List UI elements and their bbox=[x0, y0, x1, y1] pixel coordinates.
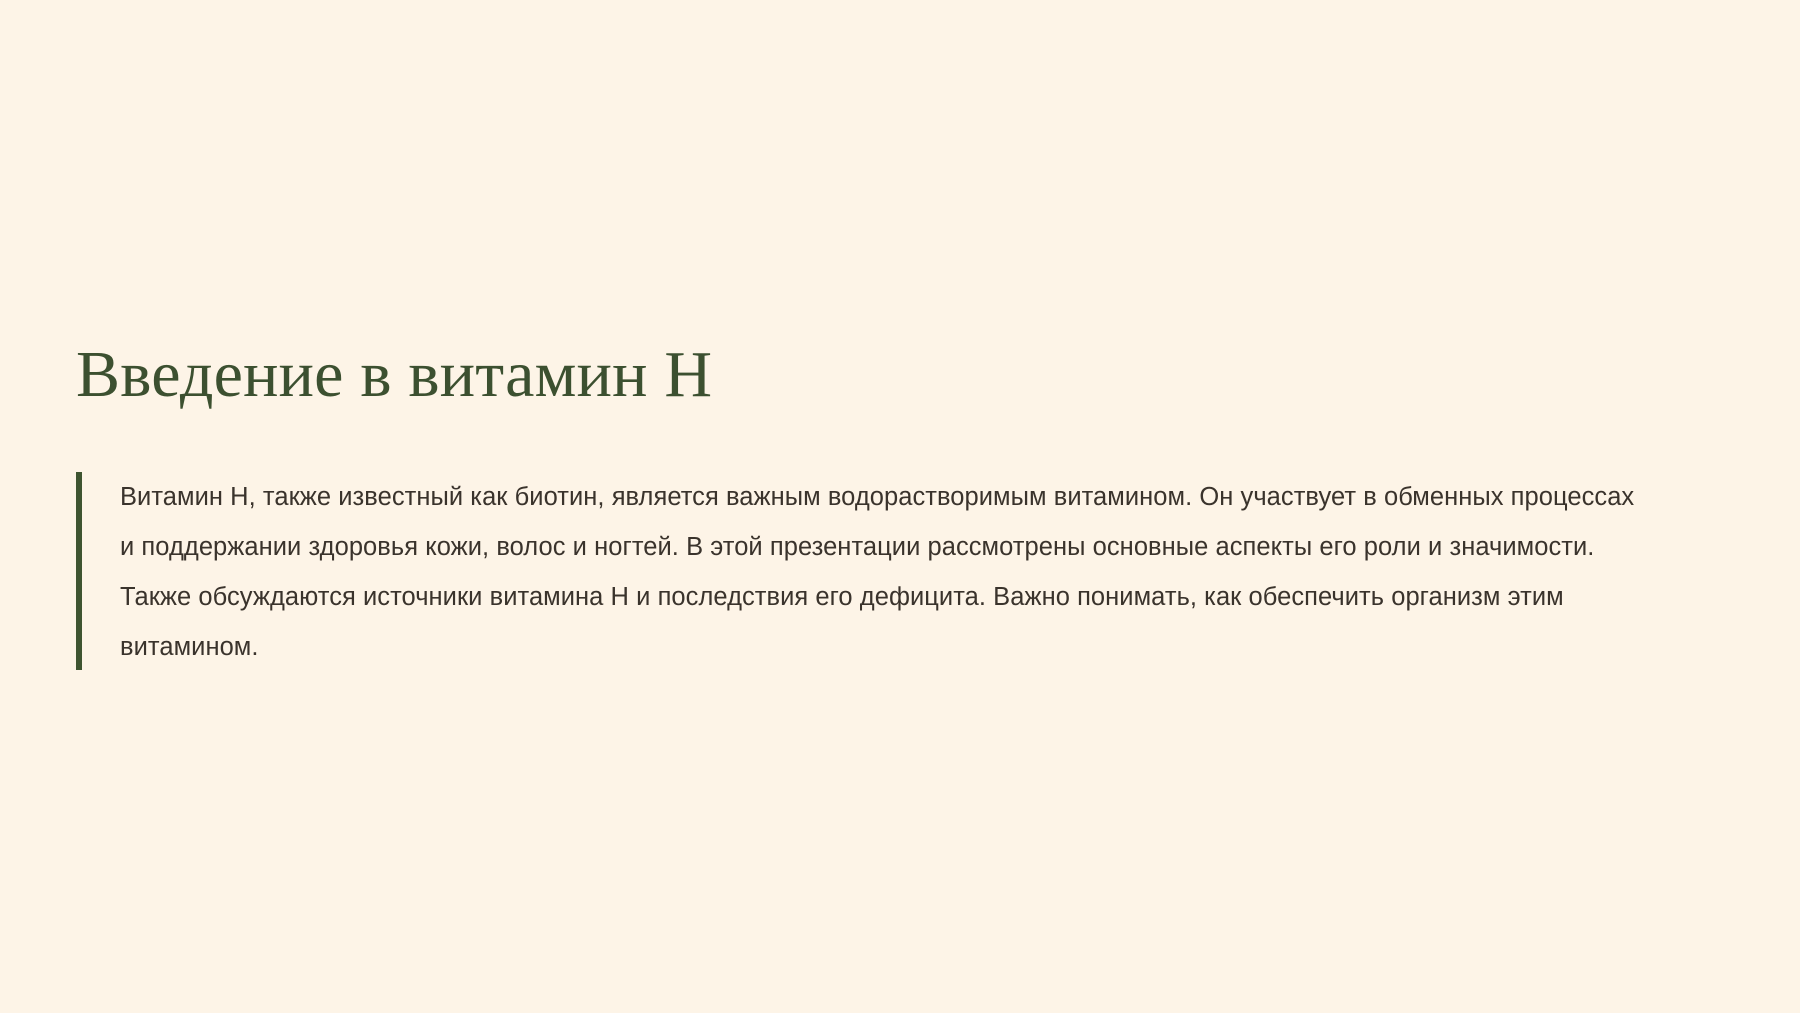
body-paragraph: Витамин Н, также известный как биотин, я… bbox=[120, 472, 1648, 672]
body-quote-block: Витамин Н, также известный как биотин, я… bbox=[76, 472, 1676, 672]
slide-content: Введение в витамин Н Витамин Н, также из… bbox=[76, 340, 1676, 672]
presentation-slide: Введение в витамин Н Витамин Н, также из… bbox=[0, 0, 1800, 1013]
accent-bar bbox=[76, 472, 82, 670]
page-title: Введение в витамин Н bbox=[76, 340, 1676, 410]
